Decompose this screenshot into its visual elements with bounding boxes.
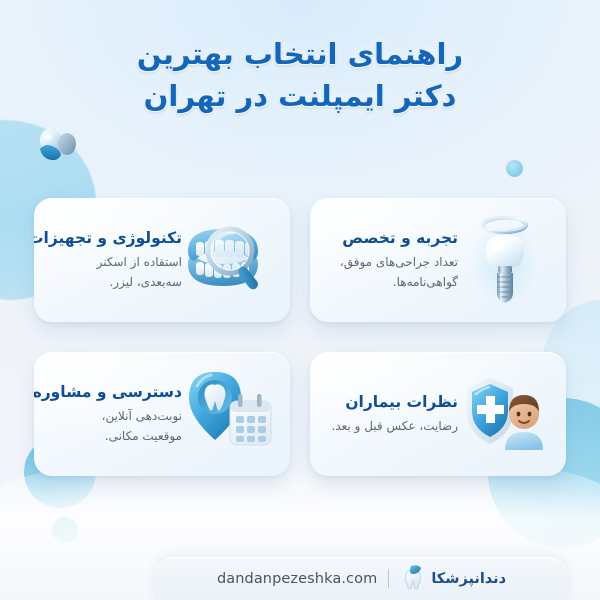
infographic-poster: راهنمای انتخاب بهترین دکتر ایمپلنت در ته… (0, 0, 600, 600)
dental-implant-icon (458, 208, 552, 312)
card-reviews[interactable]: نظرات بیماران رضایت، عکس قبل و بعد. (310, 352, 566, 476)
card-experience-title: تجربه و تخصص (322, 228, 458, 248)
card-technology-text: تکنولوژی و تجهیزات استفاده از اسکنر سه‌ب… (34, 228, 182, 293)
card-experience-text: تجربه و تخصص تعداد جراحی‌های موفق، گواهی… (318, 228, 458, 293)
card-access[interactable]: دسترسی و مشاوره نوبت‌دهی آنلاین، موقعیت … (34, 352, 290, 476)
card-access-desc-line1: نوبت‌دهی آنلاین، (34, 407, 182, 427)
card-reviews-desc-line1: رضایت، عکس قبل و بعد. (322, 417, 458, 437)
title-line-1: راهنمای انتخاب بهترین (60, 33, 540, 75)
card-access-desc-line2: موقعیت مکانی. (34, 427, 182, 447)
tooth-logo-icon (400, 564, 426, 594)
card-technology-title: تکنولوژی و تجهیزات (34, 228, 182, 248)
card-experience-desc-line2: گواهی‌نامه‌ها. (322, 273, 458, 293)
denture-magnifier-icon (182, 208, 276, 312)
card-reviews-text: نظرات بیماران رضایت، عکس قبل و بعد. (318, 392, 458, 437)
card-technology-desc-line2: سه‌بعدی، لیزر. (34, 273, 182, 293)
footer-divider (388, 569, 389, 588)
brand-logo[interactable]: دندانپزشکا (400, 564, 506, 594)
shield-patient-icon (458, 362, 552, 466)
page-title: راهنمای انتخاب بهترین دکتر ایمپلنت در ته… (0, 33, 600, 117)
footer-bar: دندانپزشکا (155, 557, 568, 600)
brand-name-fa: دندانپزشکا (431, 571, 506, 587)
decorative-dot-bottom-left (52, 517, 78, 543)
map-pin-tooth-calendar-icon (182, 362, 276, 466)
feature-cards-grid: تجربه و تخصص تعداد جراحی‌های موفق، گواهی… (34, 198, 566, 476)
card-technology[interactable]: تکنولوژی و تجهیزات استفاده از اسکنر سه‌ب… (34, 198, 290, 322)
card-access-text: دسترسی و مشاوره نوبت‌دهی آنلاین، موقعیت … (34, 382, 182, 447)
card-experience[interactable]: تجربه و تخصص تعداد جراحی‌های موفق، گواهی… (310, 198, 566, 322)
card-reviews-title: نظرات بیماران (322, 392, 458, 412)
title-line-2: دکتر ایمپلنت در تهران (60, 75, 540, 117)
floating-molar-icon (31, 127, 83, 173)
card-technology-desc-line1: استفاده از اسکنر (34, 253, 182, 273)
brand-website-url[interactable]: dandanpezeshka.com (217, 571, 377, 587)
card-experience-desc-line1: تعداد جراحی‌های موفق، (322, 253, 458, 273)
card-access-title: دسترسی و مشاوره (34, 382, 182, 402)
decorative-dot-top-right (506, 160, 523, 177)
